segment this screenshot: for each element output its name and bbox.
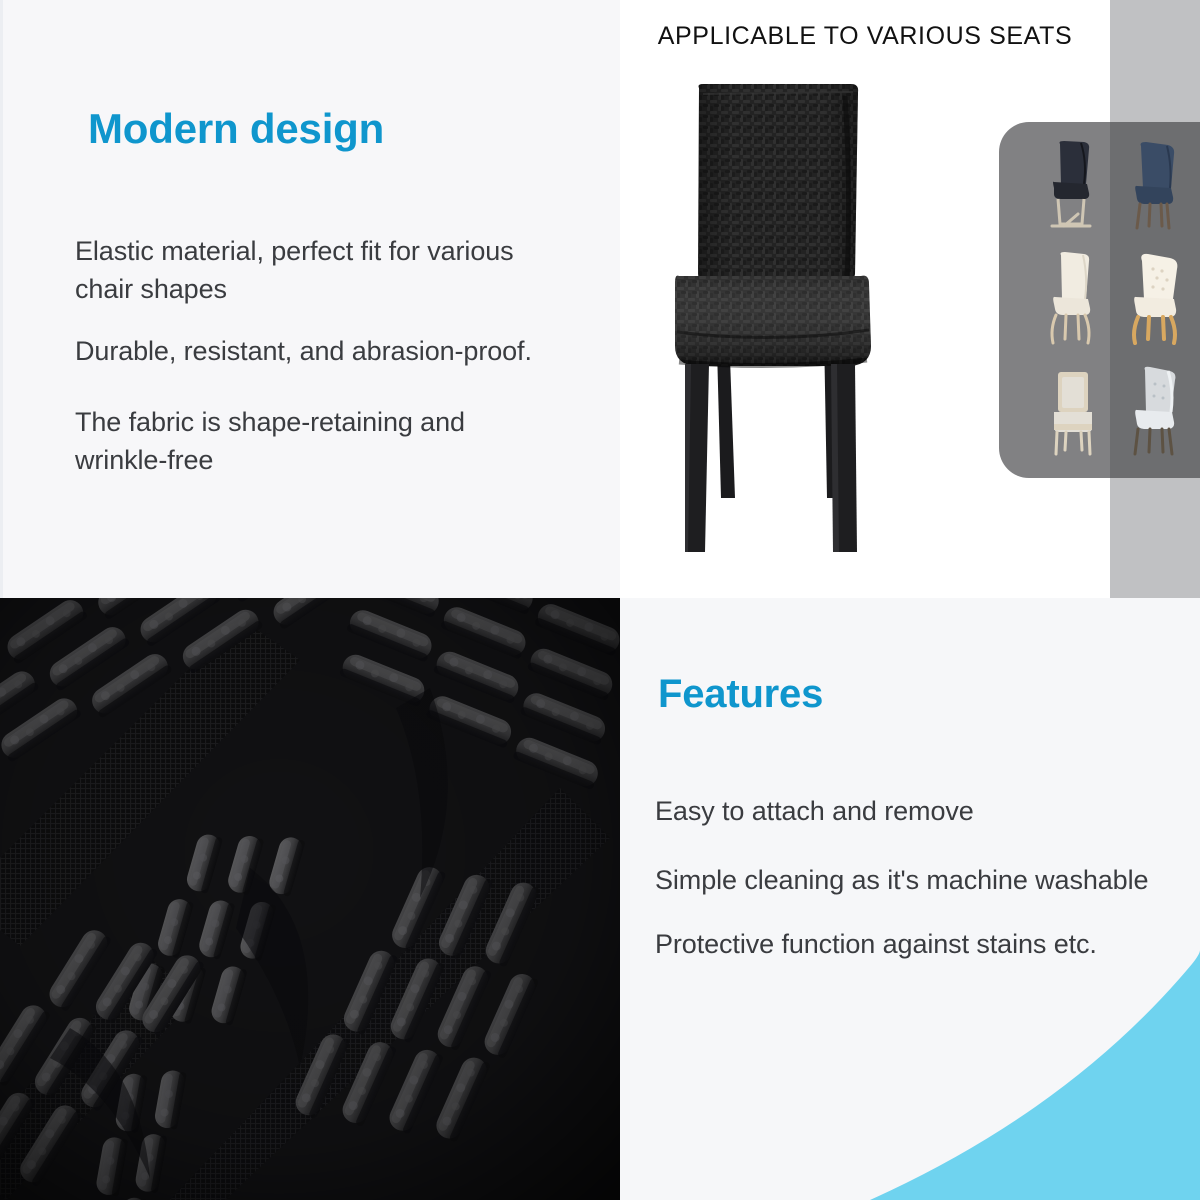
chair-thumbnail-ivory-tufted bbox=[1113, 243, 1197, 356]
chair-thumbnail-cream-highback bbox=[1029, 243, 1113, 356]
seat-thumbnails-grid bbox=[999, 122, 1200, 478]
infographic-page: Modern design Elastic material, perfect … bbox=[0, 0, 1200, 1200]
modern-design-heading: Modern design bbox=[88, 105, 384, 153]
chair-thumbnail-gray-tufted bbox=[1113, 355, 1197, 468]
applicable-seats-title: APPLICABLE TO VARIOUS SEATS bbox=[620, 22, 1110, 51]
features-heading: Features bbox=[658, 672, 823, 717]
fabric-closeup-panel bbox=[0, 598, 620, 1200]
modern-design-point-1: Elastic material, perfect fit for variou… bbox=[75, 232, 555, 308]
modern-design-panel: Modern design Elastic material, perfect … bbox=[0, 0, 620, 598]
modern-design-point-2: Durable, resistant, and abrasion-proof. bbox=[75, 332, 595, 370]
chair-thumbnail-navy-wingback bbox=[1113, 130, 1197, 243]
seat-thumbnails-panel bbox=[999, 122, 1200, 478]
fabric-texture-closeup-icon bbox=[0, 598, 620, 1200]
features-point-2: Simple cleaning as it's machine washable bbox=[655, 861, 1195, 899]
features-point-1: Easy to attach and remove bbox=[655, 792, 1155, 830]
chair-thumbnail-black-cantilever bbox=[1029, 130, 1113, 243]
modern-design-point-3: The fabric is shape-retaining and wrinkl… bbox=[75, 403, 555, 479]
dining-chair-with-slipcover-icon bbox=[655, 78, 895, 558]
features-point-3: Protective function against stains etc. bbox=[655, 925, 1175, 963]
chair-thumbnail-beige-parsons bbox=[1029, 355, 1113, 468]
